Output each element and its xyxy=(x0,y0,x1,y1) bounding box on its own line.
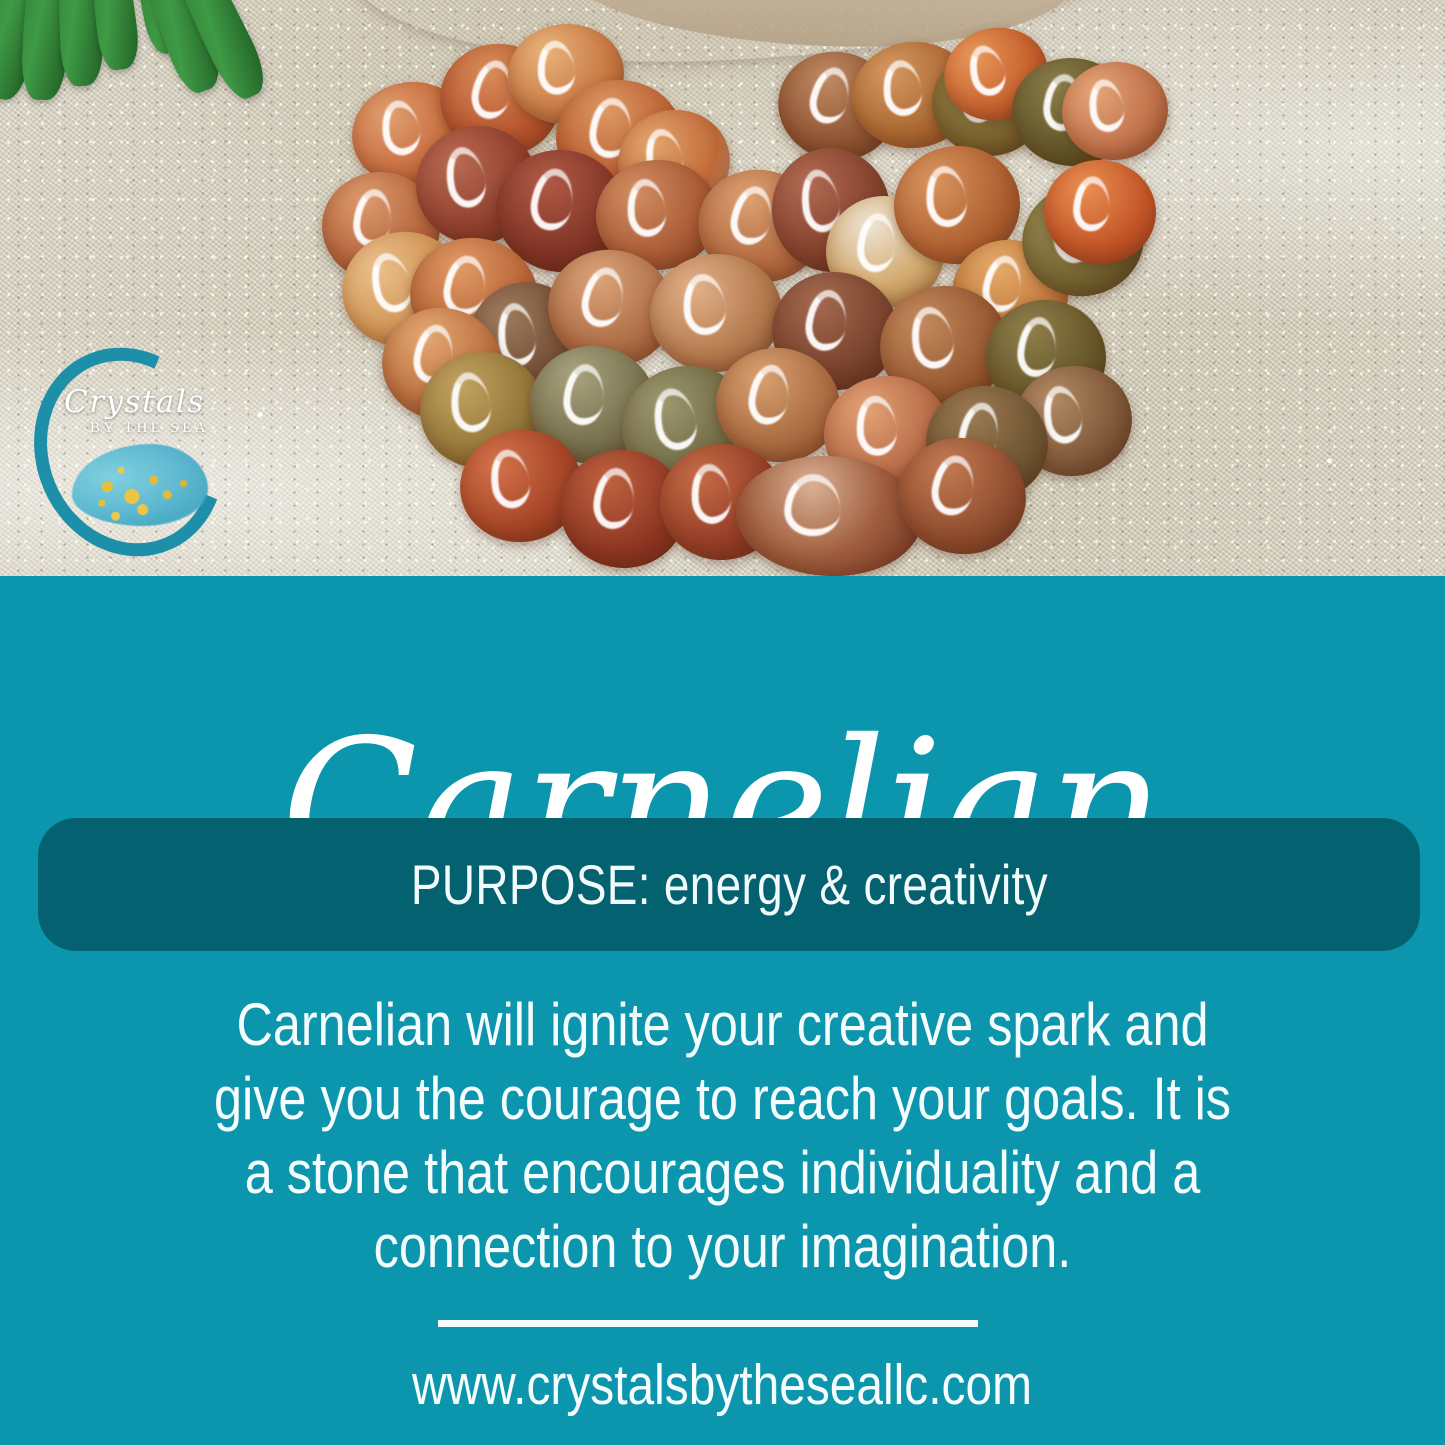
website-url-text: www.crystalsbytheseallc.com xyxy=(413,1352,1033,1418)
purpose-text: PURPOSE: energy & creativity xyxy=(411,852,1048,917)
carnelian-product-graphic: Crystals BY THE SEA Carnelian PURPOSE: e… xyxy=(0,0,1445,1445)
logo-tagline: BY THE SEA xyxy=(90,420,209,437)
description-line: connection to your imagination. xyxy=(200,1210,1246,1284)
logo-brand-name: Crystals xyxy=(64,384,224,420)
horizontal-divider xyxy=(438,1320,978,1327)
purpose-banner: PURPOSE: energy & creativity xyxy=(38,818,1420,951)
description-line: a stone that encourages individuality an… xyxy=(200,1136,1246,1210)
brand-logo[interactable]: Crystals BY THE SEA xyxy=(28,344,224,544)
description-line: Carnelian will ignite your creative spar… xyxy=(200,988,1246,1062)
website-url[interactable]: www.crystalsbytheseallc.com xyxy=(0,1352,1445,1418)
description-text: Carnelian will ignite your creative spar… xyxy=(100,988,1345,1284)
description-line: give you the courage to reach your goals… xyxy=(200,1062,1246,1136)
